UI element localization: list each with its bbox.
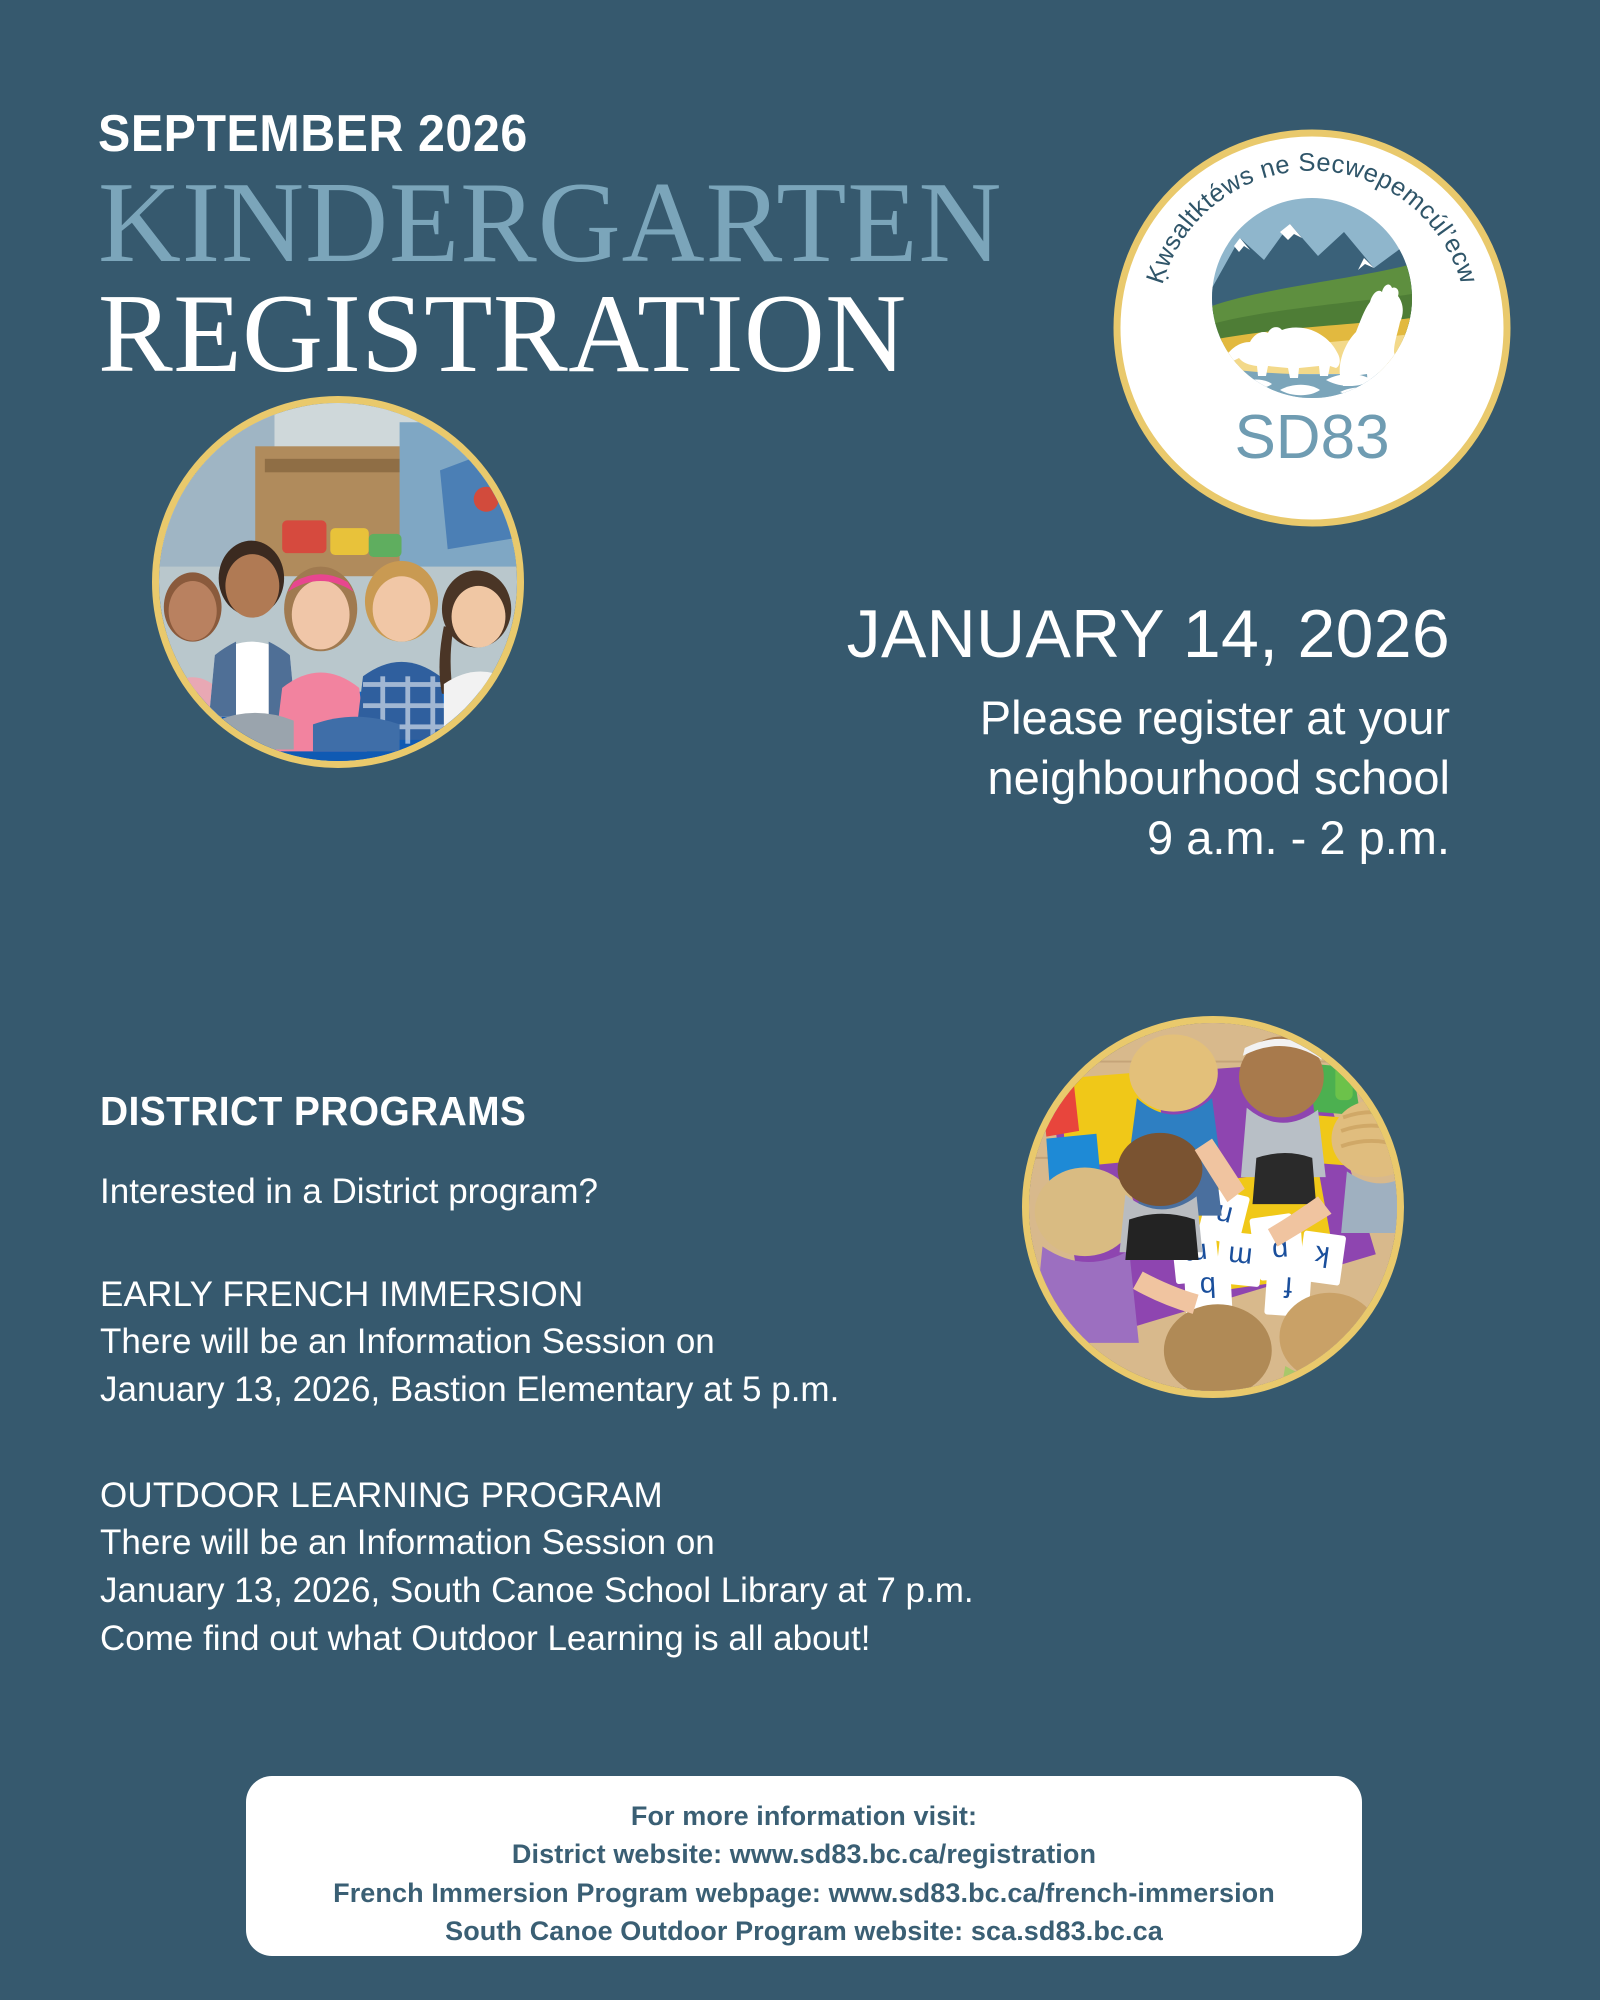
header-registration: REGISTRATION xyxy=(98,277,1058,391)
registration-instruction-line-2: neighbourhood school xyxy=(560,748,1450,808)
program-line-1-1: There will be an Information Session on xyxy=(100,1519,1160,1567)
district-programs-title: DISTRICT PROGRAMS xyxy=(100,1088,1107,1135)
footer-french-immersion-website[interactable]: French Immersion Program webpage: www.sd… xyxy=(266,1874,1342,1912)
sd83-logo: Ḳwsaltktéws ne Secwepemcúl’ecw SD83 xyxy=(1112,128,1512,528)
program-name-1: OUTDOOR LEARNING PROGRAM xyxy=(100,1472,1160,1519)
logo-sd83-text: SD83 xyxy=(1234,403,1389,472)
footer-south-canoe-website[interactable]: South Canoe Outdoor Program website: sca… xyxy=(266,1912,1342,1950)
poster-header: SEPTEMBER 2026 KINDERGARTEN REGISTRATION xyxy=(98,108,1058,391)
photo-children-classroom xyxy=(152,396,524,768)
program-line-0-1: There will be an Information Session on xyxy=(100,1318,1160,1366)
header-kindergarten: KINDERGARTEN xyxy=(98,170,1048,277)
program-line-0-2: January 13, 2026, Bastion Elementary at … xyxy=(100,1366,1160,1414)
district-programs-lead: Interested in a District program? xyxy=(100,1169,1160,1215)
poster-root: SEPTEMBER 2026 KINDERGARTEN REGISTRATION xyxy=(0,0,1600,2000)
registration-instruction-line-1: Please register at your xyxy=(560,688,1450,748)
registration-hours: 9 a.m. - 2 p.m. xyxy=(560,808,1450,868)
photo-children-classroom-image xyxy=(159,403,517,761)
program-outdoor-learning: OUTDOOR LEARNING PROGRAM There will be a… xyxy=(100,1472,1160,1663)
registration-date-block: JANUARY 14, 2026 Please register at your… xyxy=(560,598,1450,869)
program-early-french-immersion: EARLY FRENCH IMMERSION There will be an … xyxy=(100,1271,1160,1414)
header-kicker: SEPTEMBER 2026 xyxy=(98,108,991,160)
district-programs-section: DISTRICT PROGRAMS Interested in a Distri… xyxy=(100,1088,1160,1721)
program-name-0: EARLY FRENCH IMMERSION xyxy=(100,1271,1160,1318)
program-line-1-2: January 13, 2026, South Canoe School Lib… xyxy=(100,1567,1160,1615)
program-line-1-3: Come find out what Outdoor Learning is a… xyxy=(100,1615,1160,1663)
svg-text:b: b xyxy=(1199,1270,1217,1303)
svg-text:m: m xyxy=(1227,1239,1254,1273)
registration-date: JANUARY 14, 2026 xyxy=(560,598,1450,670)
more-information-card: For more information visit: District web… xyxy=(246,1776,1362,1956)
footer-heading: For more information visit: xyxy=(266,1797,1342,1835)
sd83-logo-graphic: Ḳwsaltktéws ne Secwepemcúl’ecw SD83 xyxy=(1112,128,1512,528)
footer-district-website[interactable]: District website: www.sd83.bc.ca/registr… xyxy=(266,1835,1342,1873)
